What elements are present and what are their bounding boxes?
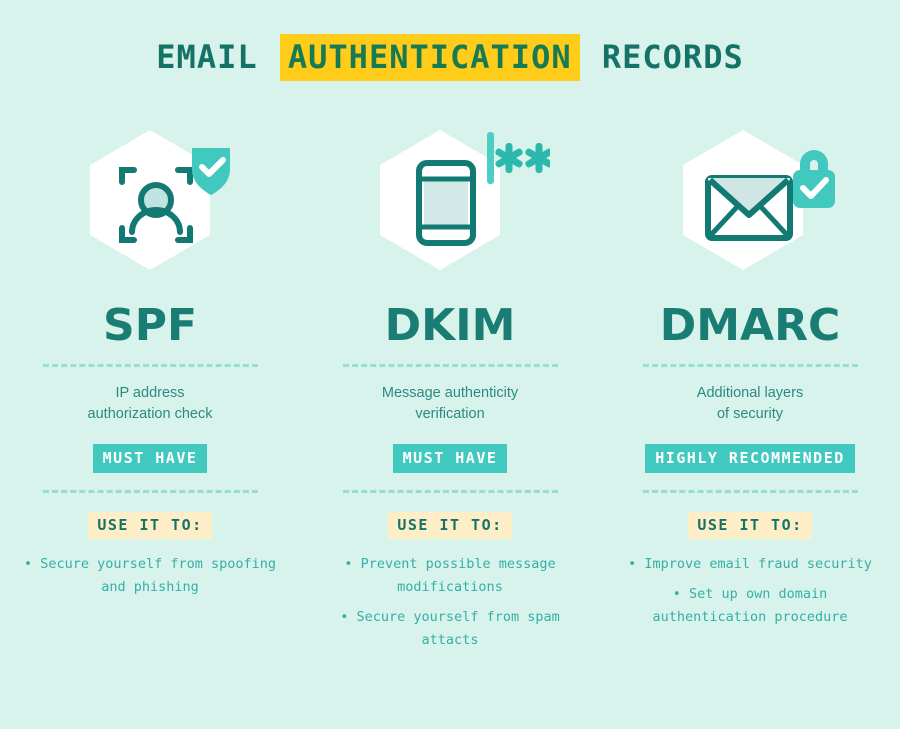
divider-bottom-dmarc — [643, 490, 858, 493]
bullet-dot-icon: • — [340, 609, 348, 625]
list-item: • Secure yourself from spam attacts — [315, 606, 585, 652]
card-description-spf: IP address authorization check — [88, 383, 213, 425]
card-title-dkim: DKIM — [385, 302, 516, 350]
bullet-dot-icon: • — [628, 556, 636, 572]
card-dmarc: DMARC Additional layers of security HIGH… — [600, 120, 900, 659]
desc-line-2: of security — [697, 404, 803, 425]
status-badge-dmarc: HIGHLY RECOMMENDED — [645, 444, 855, 473]
status-badge-dkim: MUST HAVE — [393, 444, 508, 473]
divider-bottom-dkim — [343, 490, 558, 493]
title-part-1: EMAIL — [156, 38, 257, 76]
dkim-icon-block — [350, 120, 550, 280]
spf-icon-block — [50, 120, 250, 280]
envelope-lock-check-icon — [650, 120, 850, 280]
phone-password-asterisk-icon — [350, 120, 550, 280]
bullet-text: Secure yourself from spoofing and phishi… — [40, 556, 276, 595]
card-title-dmarc: DMARC — [660, 302, 841, 350]
bullet-dot-icon: • — [344, 556, 352, 572]
cards-container: SPF IP address authorization check MUST … — [0, 120, 900, 659]
divider-top-dmarc — [643, 364, 858, 367]
title-text: EMAIL AUTHENTICATION RECORDS — [156, 34, 743, 81]
use-it-to-label-dmarc: USE IT TO: — [688, 512, 811, 539]
person-scan-shield-check-icon — [50, 120, 250, 280]
use-it-to-label-spf: USE IT TO: — [88, 512, 211, 539]
page-title: EMAIL AUTHENTICATION RECORDS — [0, 0, 900, 81]
list-item: • Prevent possible message modifications — [315, 553, 585, 599]
desc-line-1: Additional layers — [697, 383, 803, 404]
card-title-spf: SPF — [103, 302, 197, 350]
bullet-dot-icon: • — [24, 556, 32, 572]
list-item: • Set up own domain authentication proce… — [615, 583, 885, 629]
divider-top-spf — [43, 364, 258, 367]
bullet-text: Prevent possible message modifications — [361, 556, 556, 595]
divider-bottom-spf — [43, 490, 258, 493]
divider-top-dkim — [343, 364, 558, 367]
desc-line-1: IP address — [88, 383, 213, 404]
use-it-to-label-dkim: USE IT TO: — [388, 512, 511, 539]
card-description-dkim: Message authenticity verification — [382, 383, 518, 425]
status-badge-spf: MUST HAVE — [93, 444, 208, 473]
bullet-list-spf: • Secure yourself from spoofing and phis… — [15, 553, 285, 606]
desc-line-2: authorization check — [88, 404, 213, 425]
dmarc-icon-block — [650, 120, 850, 280]
bullet-list-dmarc: • Improve email fraud security • Set up … — [615, 553, 885, 636]
bullet-text: Set up own domain authentication procedu… — [652, 586, 847, 625]
card-description-dmarc: Additional layers of security — [697, 383, 803, 425]
title-highlight: AUTHENTICATION — [280, 34, 580, 81]
bullet-dot-icon: • — [673, 586, 681, 602]
list-item: • Secure yourself from spoofing and phis… — [15, 553, 285, 599]
bullet-list-dkim: • Prevent possible message modifications… — [315, 553, 585, 659]
title-part-2: RECORDS — [602, 38, 744, 76]
card-spf: SPF IP address authorization check MUST … — [0, 120, 300, 659]
desc-line-1: Message authenticity — [382, 383, 518, 404]
desc-line-2: verification — [382, 404, 518, 425]
bullet-text: Improve email fraud security — [644, 556, 872, 572]
card-dkim: DKIM Message authenticity verification M… — [300, 120, 600, 659]
bullet-text: Secure yourself from spam attacts — [357, 609, 560, 648]
list-item: • Improve email fraud security — [615, 553, 885, 576]
